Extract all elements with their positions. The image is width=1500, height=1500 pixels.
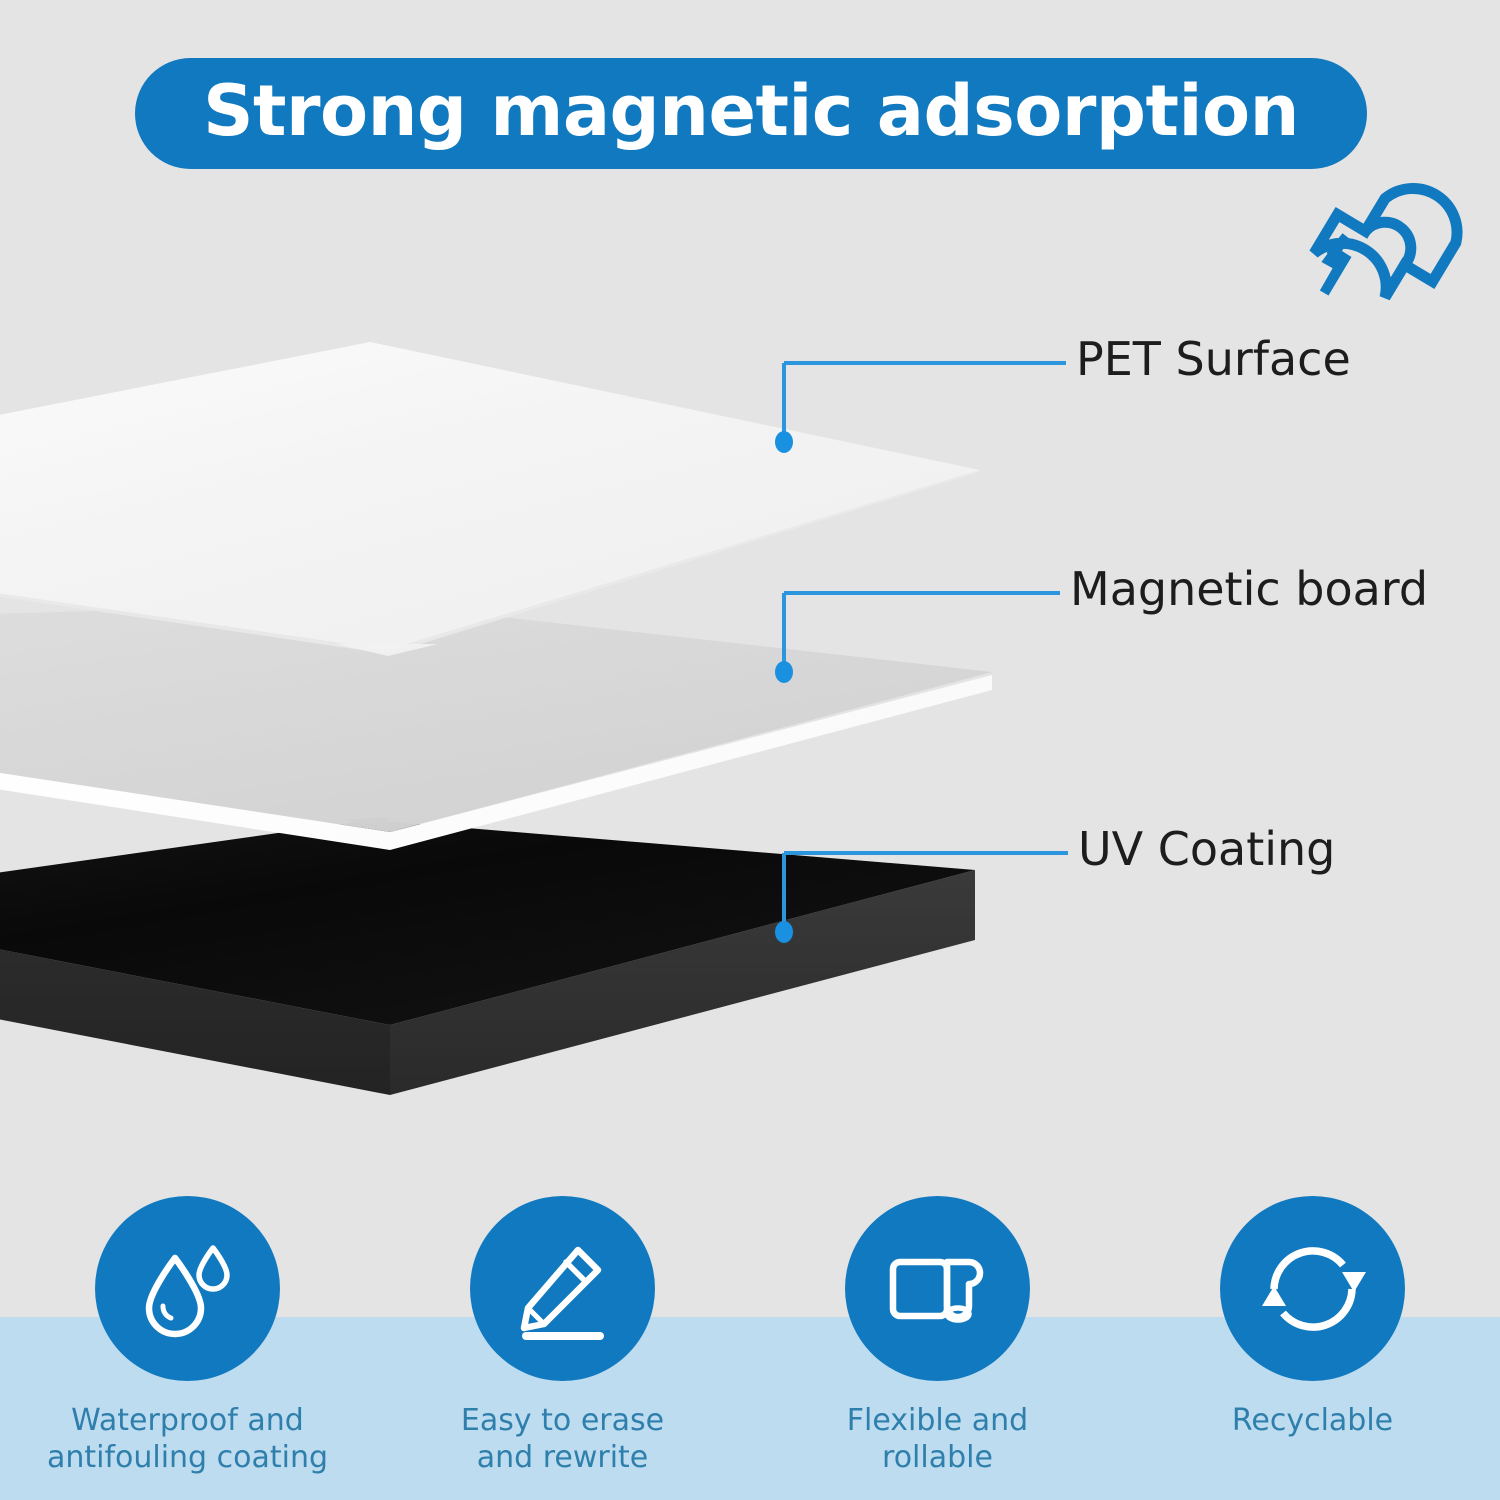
feature-icon-circle bbox=[845, 1196, 1030, 1381]
page-title: Strong magnetic adsorption bbox=[203, 76, 1299, 151]
feature-caption: Waterproof and antifouling coating bbox=[47, 1403, 328, 1476]
feature-icon-circle bbox=[1220, 1196, 1405, 1381]
feature-waterproof: Waterproof and antifouling coating bbox=[0, 1196, 375, 1500]
callout-uv-coating: UV Coating bbox=[770, 820, 1390, 950]
feature-erase-rewrite: Easy to erase and rewrite bbox=[375, 1196, 750, 1500]
feature-caption: Flexible and rollable bbox=[847, 1403, 1028, 1476]
feature-caption: Recyclable bbox=[1232, 1403, 1393, 1440]
callout-uv-coating-label: UV Coating bbox=[1078, 826, 1335, 872]
feature-caption: Easy to erase and rewrite bbox=[461, 1403, 664, 1476]
callout-magnetic-board-label: Magnetic board bbox=[1070, 566, 1428, 612]
feature-row: Waterproof and antifouling coating Easy … bbox=[0, 1196, 1500, 1500]
callout-pet-surface-label: PET Surface bbox=[1076, 336, 1351, 382]
callout-pet-surface: PET Surface bbox=[770, 330, 1390, 460]
horseshoe-magnet-icon bbox=[1295, 168, 1475, 323]
recycle-icon bbox=[1258, 1234, 1368, 1344]
callout-magnetic-board: Magnetic board bbox=[770, 560, 1450, 690]
water-drop-icon bbox=[133, 1234, 243, 1344]
feature-flexible-rollable: Flexible and rollable bbox=[750, 1196, 1125, 1500]
feature-icon-circle bbox=[95, 1196, 280, 1381]
title-banner: Strong magnetic adsorption bbox=[135, 58, 1367, 169]
feature-icon-circle bbox=[470, 1196, 655, 1381]
feature-recyclable: Recyclable bbox=[1125, 1196, 1500, 1500]
rolled-mat-icon bbox=[883, 1234, 993, 1344]
pencil-edit-icon bbox=[508, 1234, 618, 1344]
